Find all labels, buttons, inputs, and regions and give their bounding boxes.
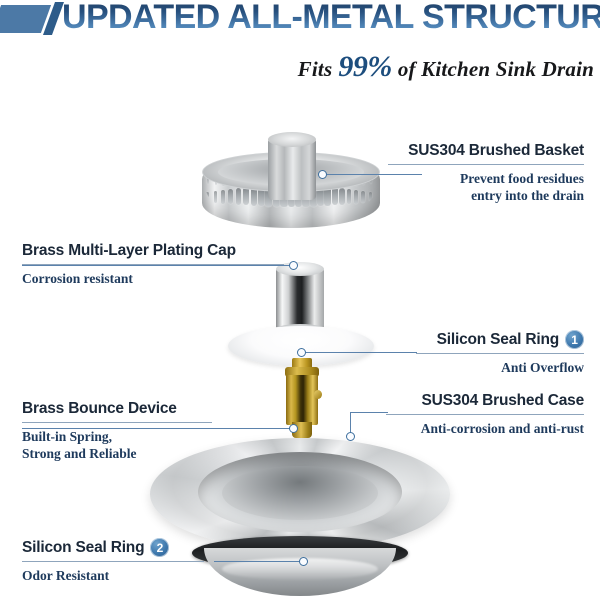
case-basin-inner — [222, 466, 378, 520]
leader-line-seal-ring-2 — [214, 561, 304, 562]
leader-line-seal-ring-1 — [305, 352, 417, 353]
product-infographic: UPDATED ALL-METAL STRUCTURE Fits99%of Ki… — [0, 0, 600, 600]
basket-slot — [243, 187, 249, 205]
basket-slot — [354, 190, 358, 204]
sus304-brushed-basket-part — [196, 132, 386, 236]
connector-dot-basket — [318, 170, 327, 179]
basket-knob — [268, 138, 316, 200]
callout-sus304-brushed-case: SUS304 Brushed Case Anti-corrosion and a… — [386, 392, 584, 437]
callout-rule — [22, 264, 284, 265]
connector-dot-seal-ring-1 — [297, 348, 306, 357]
callout-title-text: Brass Multi-Layer Plating Cap — [22, 242, 236, 260]
connector-dot-bounce-device — [289, 424, 298, 433]
callout-title: SUS304 Brushed Basket — [388, 142, 584, 160]
basket-slot — [339, 188, 344, 205]
callout-rule — [22, 561, 204, 562]
callout-title-text: SUS304 Brushed Basket — [408, 142, 584, 160]
callout-sus304-brushed-basket: SUS304 Brushed Basket Prevent food resid… — [388, 142, 584, 205]
callout-description: Corrosion resistant — [22, 270, 284, 287]
callout-description: Built-in Spring, Strong and Reliable — [22, 428, 212, 463]
callout-description: Anti Overflow — [416, 359, 584, 376]
callout-title-text: Silicon Seal Ring — [22, 539, 144, 557]
basket-slot — [332, 187, 338, 205]
callout-title: Silicon Seal Ring 2 — [22, 538, 204, 557]
callout-brass-bounce-device: Brass Bounce Device Built-in Spring, Str… — [22, 400, 212, 463]
callout-title-text: Silicon Seal Ring — [437, 331, 559, 349]
basket-slot — [228, 189, 233, 205]
subtitle-suffix: of Kitchen Sink Drain — [396, 57, 596, 81]
callout-title: Brass Bounce Device — [22, 400, 212, 418]
parallelogram-icon — [0, 5, 51, 33]
callout-rule — [416, 353, 584, 354]
header-band: UPDATED ALL-METAL STRUCTURE — [0, 0, 600, 44]
callout-rule — [388, 164, 584, 165]
page-title: UPDATED ALL-METAL STRUCTURE — [62, 0, 600, 37]
basket-slot — [214, 191, 218, 203]
callout-brass-multi-layer-plating-cap: Brass Multi-Layer Plating Cap Corrosion … — [22, 242, 284, 287]
callout-title: Silicon Seal Ring 1 — [416, 330, 584, 349]
callout-title-text: Brass Bounce Device — [22, 400, 177, 418]
callout-title: Brass Multi-Layer Plating Cap — [22, 242, 284, 260]
subtitle-prefix: Fits — [296, 57, 335, 81]
basket-slot — [361, 191, 365, 203]
callout-description: Anti-corrosion and anti-rust — [386, 420, 584, 437]
brass-body — [286, 375, 318, 425]
brass-side-pin — [314, 390, 322, 399]
subtitle-percent: 99% — [334, 50, 396, 83]
basket-slot — [206, 192, 209, 203]
callout-title-text: SUS304 Brushed Case — [422, 392, 584, 410]
connector-dot-seal-ring-2 — [299, 557, 308, 566]
basket-knob-top — [268, 132, 316, 147]
callout-rule — [22, 422, 212, 423]
callout-description: Prevent food residues entry into the dra… — [388, 170, 584, 205]
status-badge-2: 2 — [150, 538, 169, 557]
basket-slot — [369, 192, 372, 203]
connector-dot-cap — [289, 261, 298, 270]
basket-slot — [347, 189, 352, 205]
status-badge-1: 1 — [565, 330, 584, 349]
callout-rule — [386, 414, 584, 415]
basket-slot — [236, 188, 241, 205]
callout-title: SUS304 Brushed Case — [386, 392, 584, 410]
subtitle: Fits99%of Kitchen Sink Drain — [296, 50, 596, 84]
callout-description: Odor Resistant — [22, 567, 204, 584]
basket-slot — [221, 190, 225, 204]
callout-silicon-seal-ring-1: Silicon Seal Ring 1 Anti Overflow — [416, 330, 584, 376]
connector-dot-case — [346, 432, 355, 441]
callout-silicon-seal-ring-2: Silicon Seal Ring 2 Odor Resistant — [22, 538, 204, 584]
leader-line-case-h — [350, 412, 388, 413]
